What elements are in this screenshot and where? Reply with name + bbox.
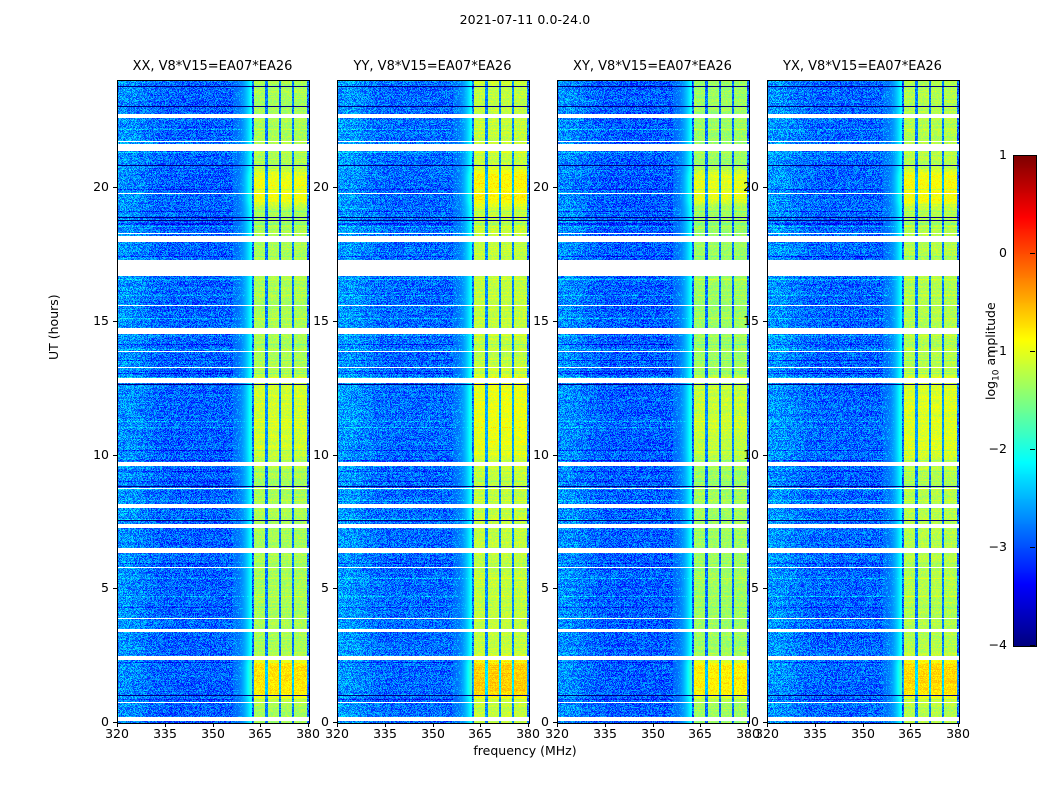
- colorbar-label-rest: amplitude: [983, 302, 998, 369]
- y-tick-mark: [553, 321, 557, 322]
- y-tick-mark: [333, 455, 337, 456]
- y-tick-label: 5: [289, 581, 329, 595]
- colorbar-label-subscript: 10: [992, 369, 1002, 380]
- spectrogram-panel-yy: [337, 80, 530, 724]
- colorbar-tick-label: −3: [985, 540, 1007, 554]
- y-tick-mark: [113, 588, 117, 589]
- y-tick-label: 10: [719, 448, 759, 462]
- y-tick-label: 10: [289, 448, 329, 462]
- x-tick-label: 380: [725, 726, 771, 742]
- colorbar-tick-mark: [1030, 449, 1035, 450]
- x-tick-label: 365: [457, 726, 503, 742]
- y-tick-label: 15: [289, 314, 329, 328]
- y-tick-label: 15: [69, 314, 109, 328]
- colorbar-tick-mark: [1030, 351, 1035, 352]
- y-tick-mark: [763, 455, 767, 456]
- x-tick-label: 335: [792, 726, 838, 742]
- x-tick-label: 350: [630, 726, 676, 742]
- y-tick-mark: [553, 187, 557, 188]
- x-tick-label: 335: [142, 726, 188, 742]
- y-tick-mark: [113, 187, 117, 188]
- y-tick-mark: [333, 187, 337, 188]
- colorbar-tick-mark: [1030, 155, 1035, 156]
- y-tick-label: 15: [509, 314, 549, 328]
- y-tick-label: 5: [69, 581, 109, 595]
- y-tick-mark: [763, 187, 767, 188]
- x-tick-label: 350: [840, 726, 886, 742]
- x-tick-label: 350: [410, 726, 456, 742]
- y-tick-mark: [113, 321, 117, 322]
- y-tick-label: 20: [719, 180, 759, 194]
- colorbar-gradient: [1014, 156, 1036, 646]
- figure-canvas: 2021-07-11 0.0-24.0 XX, V8*V15=EA07*EA26…: [0, 0, 1050, 800]
- y-tick-label: 5: [509, 581, 549, 595]
- y-tick-mark: [333, 588, 337, 589]
- x-tick-label: 335: [582, 726, 628, 742]
- x-tick-label: 380: [935, 726, 981, 742]
- x-axis-label: frequency (MHz): [0, 743, 1050, 758]
- y-tick-mark: [553, 588, 557, 589]
- x-tick-label: 335: [362, 726, 408, 742]
- colorbar: [1013, 155, 1037, 647]
- x-tick-label: 365: [237, 726, 283, 742]
- y-tick-label: 20: [289, 180, 329, 194]
- colorbar-label: log10 amplitude: [983, 302, 1002, 400]
- figure-title: 2021-07-11 0.0-24.0: [0, 12, 1050, 27]
- colorbar-tick-label: 1: [985, 148, 1007, 162]
- x-tick-label: 365: [887, 726, 933, 742]
- spectrogram-panel-xy: [557, 80, 750, 724]
- x-tick-label: 380: [505, 726, 551, 742]
- spectrogram-image-xx: [118, 81, 309, 723]
- y-tick-mark: [113, 455, 117, 456]
- spectrogram-panel-yx: [767, 80, 960, 724]
- colorbar-tick-label: 0: [985, 246, 1007, 260]
- y-tick-mark: [333, 321, 337, 322]
- y-tick-label: 15: [719, 314, 759, 328]
- panel-title-yy: YY, V8*V15=EA07*EA26: [337, 58, 528, 76]
- panel-title-xy: XY, V8*V15=EA07*EA26: [557, 58, 748, 76]
- spectrogram-panel-xx: [117, 80, 310, 724]
- colorbar-label-base: log: [983, 381, 998, 400]
- colorbar-tick-mark: [1030, 645, 1035, 646]
- colorbar-tick-mark: [1030, 253, 1035, 254]
- spectrogram-image-yy: [338, 81, 529, 723]
- x-tick-label: 380: [285, 726, 331, 742]
- y-tick-mark: [763, 588, 767, 589]
- x-tick-label: 350: [190, 726, 236, 742]
- y-tick-label: 20: [509, 180, 549, 194]
- y-tick-label: 5: [719, 581, 759, 595]
- spectrogram-image-xy: [558, 81, 749, 723]
- panel-title-yx: YX, V8*V15=EA07*EA26: [767, 58, 958, 76]
- spectrogram-image-yx: [768, 81, 959, 723]
- x-tick-label: 365: [677, 726, 723, 742]
- colorbar-tick-label: −2: [985, 442, 1007, 456]
- y-tick-label: 10: [69, 448, 109, 462]
- y-axis-label: UT (hours): [46, 294, 61, 360]
- y-tick-mark: [553, 455, 557, 456]
- colorbar-tick-mark: [1030, 547, 1035, 548]
- x-tick-label: 320: [94, 726, 140, 742]
- y-tick-label: 10: [509, 448, 549, 462]
- panel-title-xx: XX, V8*V15=EA07*EA26: [117, 58, 308, 76]
- colorbar-tick-label: −4: [985, 638, 1007, 652]
- y-tick-mark: [763, 321, 767, 322]
- y-tick-label: 20: [69, 180, 109, 194]
